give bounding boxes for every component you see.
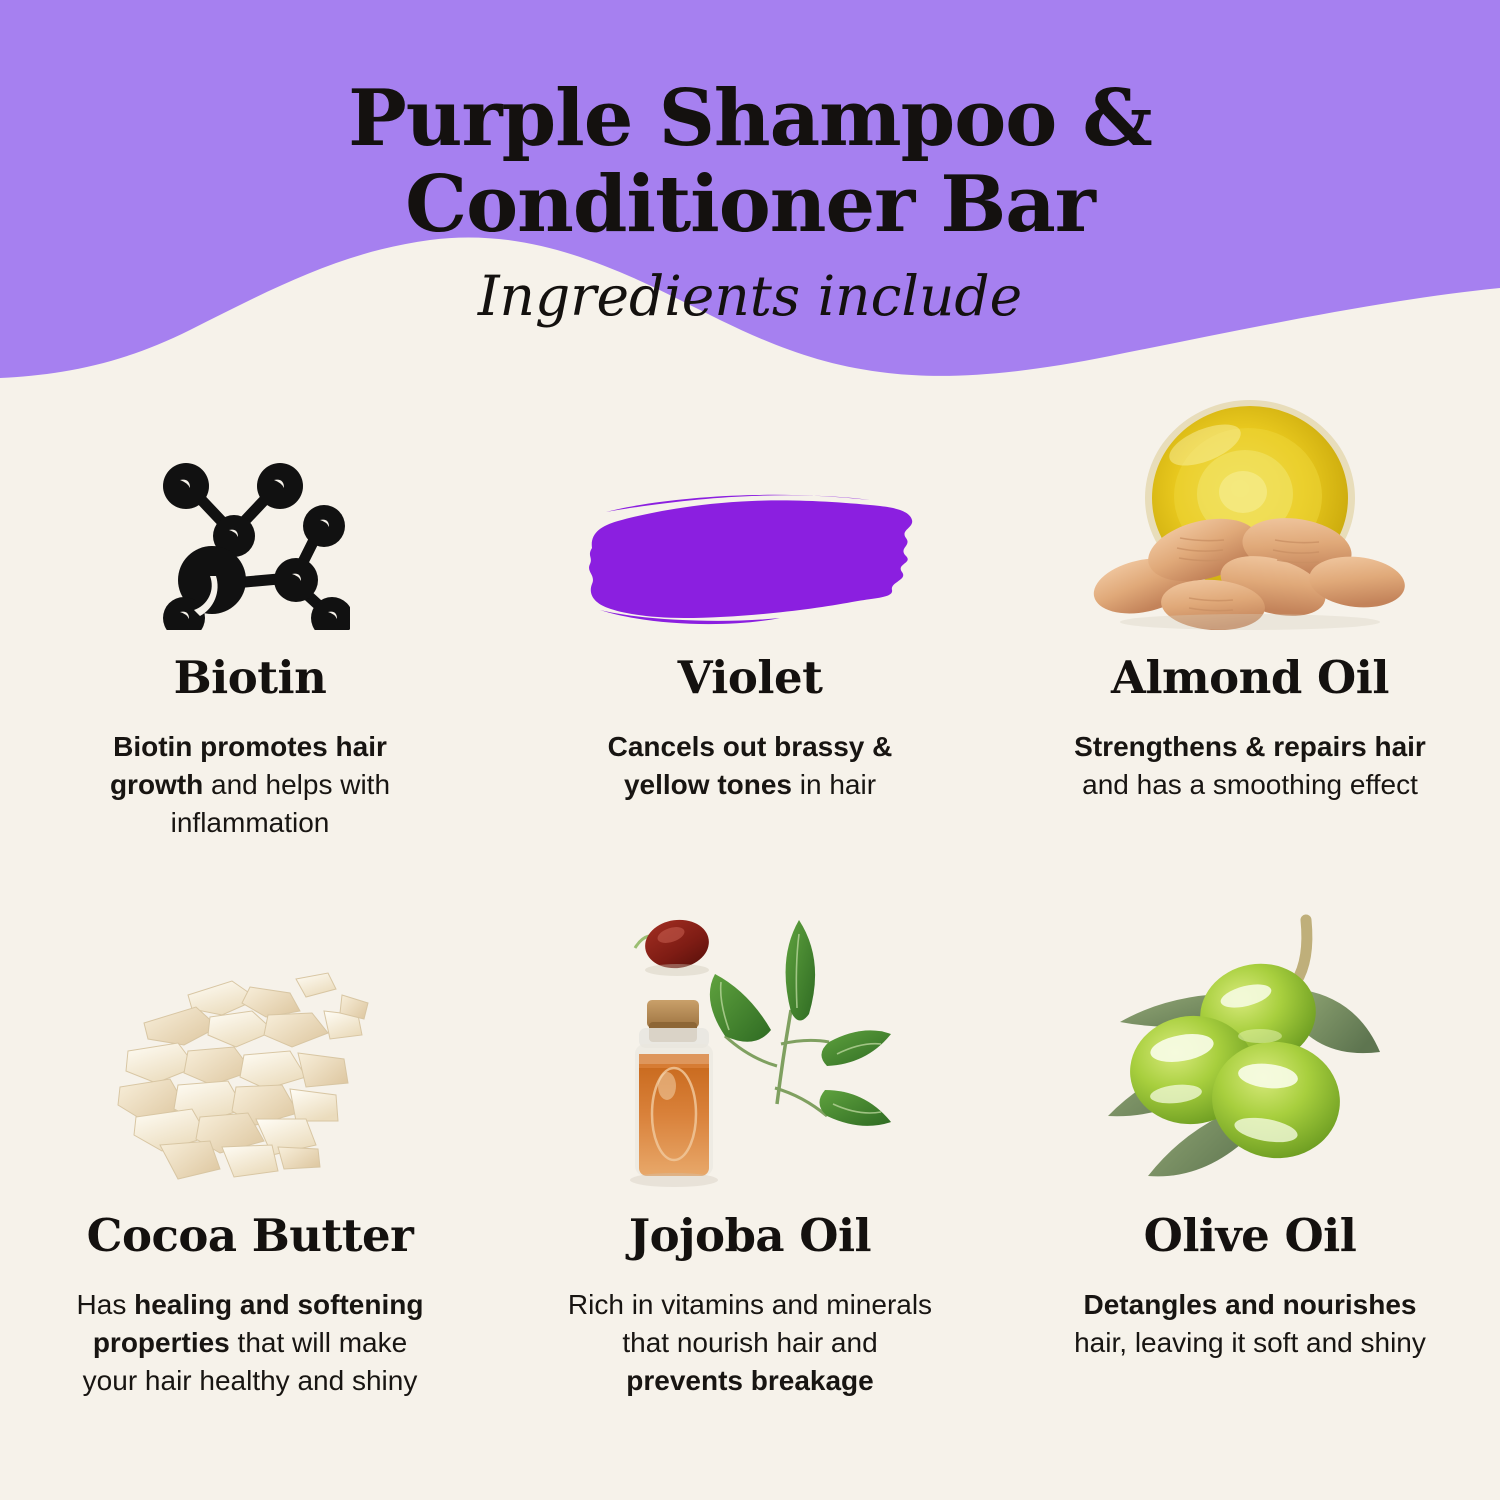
ingredient-card-biotin: Biotin Biotin promotes hair growth and h… (0, 390, 500, 842)
violet-artwork (528, 390, 972, 630)
biotin-artwork (28, 390, 472, 630)
description-bold: Detangles and nourishes (1084, 1289, 1417, 1320)
violet-brush-swatch-icon (580, 490, 920, 630)
ingredient-description: Biotin promotes hair growth and helps wi… (65, 728, 435, 842)
description-rest: hair, leaving it soft and shiny (1074, 1327, 1426, 1358)
molecule-icon (150, 450, 350, 630)
ingredient-title: Jojoba Oil (629, 1210, 871, 1262)
header-banner: Purple Shampoo & Conditioner Bar Ingredi… (0, 0, 1500, 420)
description-lead: Has (77, 1289, 135, 1320)
olive-oil-artwork (1028, 894, 1472, 1194)
ingredient-card-violet: Violet Cancels out brassy & yellow tones… (500, 390, 1000, 842)
ingredient-title: Biotin (174, 652, 327, 704)
cocoa-butter-shards-icon (100, 959, 400, 1194)
purple-wave-background (0, 0, 1500, 420)
description-rest: and has a smoothing effect (1082, 769, 1418, 800)
jojoba-oil-bottle-icon (605, 904, 895, 1194)
jojoba-oil-artwork (528, 894, 972, 1194)
ingredient-card-almond-oil: Almond Oil Strengthens & repairs hair an… (1000, 390, 1500, 842)
ingredient-card-olive-oil: Olive Oil Detangles and nourishes hair, … (1000, 894, 1500, 1400)
ingredient-description: Cancels out brassy & yellow tones in hai… (565, 728, 935, 804)
almond-oil-artwork (1028, 390, 1472, 630)
ingredient-title: Cocoa Butter (87, 1210, 414, 1262)
infographic-page: Purple Shampoo & Conditioner Bar Ingredi… (0, 0, 1500, 1500)
ingredient-description: Detangles and nourishes hair, leaving it… (1065, 1286, 1435, 1362)
description-lead: Rich in vitamins and minerals that nouri… (568, 1289, 932, 1358)
ingredient-description: Rich in vitamins and minerals that nouri… (565, 1286, 935, 1400)
ingredient-description: Strengthens & repairs hair and has a smo… (1065, 728, 1435, 804)
description-rest: in hair (792, 769, 876, 800)
ingredient-title: Violet (678, 652, 823, 704)
almond-oil-bowl-icon (1085, 390, 1415, 630)
ingredient-card-jojoba-oil: Jojoba Oil Rich in vitamins and minerals… (500, 894, 1000, 1400)
ingredient-description: Has healing and softening properties tha… (65, 1286, 435, 1400)
ingredient-title: Almond Oil (1111, 652, 1389, 704)
description-bold: prevents breakage (626, 1365, 873, 1396)
olives-branch-icon (1090, 904, 1410, 1194)
ingredient-title: Olive Oil (1144, 1210, 1357, 1262)
description-rest: and helps with inflammation (171, 769, 390, 838)
ingredients-grid: Biotin Biotin promotes hair growth and h… (0, 390, 1500, 1400)
cocoa-butter-artwork (28, 894, 472, 1194)
description-bold: Strengthens & repairs hair (1074, 731, 1426, 762)
ingredient-card-cocoa-butter: Cocoa Butter Has healing and softening p… (0, 894, 500, 1400)
